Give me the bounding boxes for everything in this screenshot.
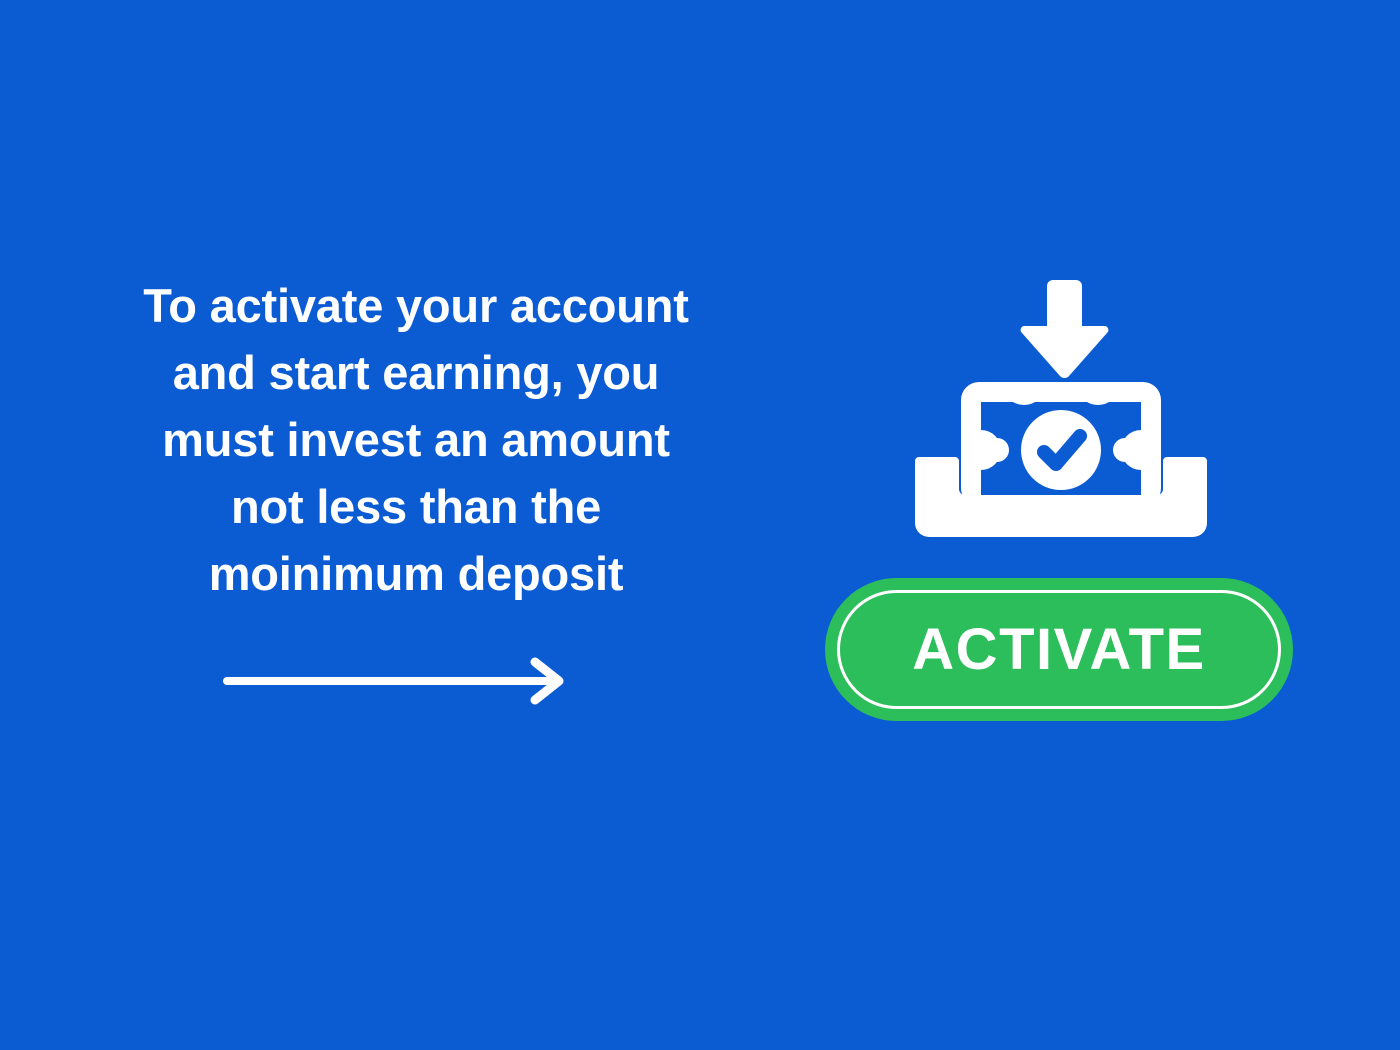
promo-headline: To activate your account and start earni…	[66, 272, 766, 607]
money-deposit-icon	[905, 272, 1217, 542]
check-circle-icon	[1021, 410, 1101, 490]
money-deposit-glyph	[905, 272, 1217, 542]
long-right-arrow-icon	[222, 650, 570, 712]
banknote-right-dot	[1113, 438, 1137, 462]
down-arrow-icon	[1021, 280, 1109, 378]
activate-button[interactable]: ACTIVATE	[825, 578, 1293, 721]
promo-banner: To activate your account and start earni…	[0, 0, 1400, 1050]
long-right-arrow-glyph	[222, 650, 570, 712]
promo-copy-block: To activate your account and start earni…	[66, 272, 766, 607]
banknote-left-dot	[985, 438, 1009, 462]
activate-button-label: ACTIVATE	[912, 621, 1205, 679]
